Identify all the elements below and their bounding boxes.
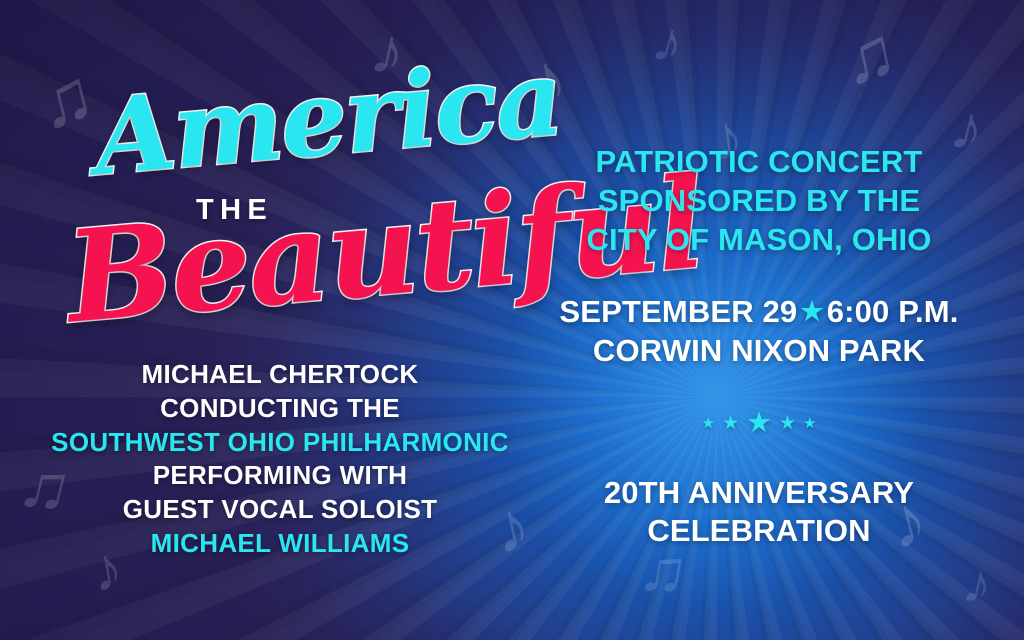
sponsor-block: PATRIOTIC CONCERT SPONSORED BY THE CITY …: [524, 142, 994, 259]
event-datetime-block: SEPTEMBER 29★6:00 P.M. CORWIN NIXON PARK: [524, 293, 994, 370]
event-details-column: PATRIOTIC CONCERT SPONSORED BY THE CITY …: [524, 142, 994, 551]
credit-line: CONDUCTING THE: [0, 392, 560, 426]
credit-line: PERFORMING WITH: [0, 459, 560, 493]
credit-line: SOUTHWEST OHIO PHILHARMONIC: [0, 426, 560, 460]
credit-line: MICHAEL CHERTOCK: [0, 358, 560, 392]
event-time: 6:00 P.M.: [827, 294, 959, 329]
sponsor-line-2: SPONSORED BY THE: [524, 181, 994, 220]
star-divider: ★★★★★: [524, 406, 994, 440]
concert-poster: ♫♪♪♪♪♫♪♪♫♪♫♪♪ America THE Beautiful MICH…: [0, 0, 1024, 640]
credit-line: GUEST VOCAL SOLOIST: [0, 493, 560, 527]
divider-star-icon: ★: [722, 414, 739, 433]
star-separator-icon: ★: [797, 296, 826, 326]
anniversary-line-1: 20TH ANNIVERSARY: [524, 474, 994, 512]
performer-credits: MICHAEL CHERTOCKCONDUCTING THESOUTHWEST …: [0, 358, 560, 561]
divider-star-icon: ★: [746, 409, 772, 438]
credit-line: MICHAEL WILLIAMS: [0, 527, 560, 561]
divider-star-icon: ★: [702, 416, 715, 431]
sponsor-line-1: PATRIOTIC CONCERT: [524, 142, 994, 181]
divider-star-icon: ★: [779, 414, 796, 433]
anniversary-block: 20TH ANNIVERSARY CELEBRATION: [524, 474, 994, 551]
event-date: SEPTEMBER 29: [559, 294, 797, 329]
anniversary-line-2: CELEBRATION: [524, 512, 994, 550]
event-date-time-line: SEPTEMBER 29★6:00 P.M.: [524, 293, 994, 331]
sponsor-line-3: CITY OF MASON, OHIO: [524, 220, 994, 259]
divider-star-icon: ★: [803, 416, 816, 431]
event-venue: CORWIN NIXON PARK: [524, 332, 994, 370]
poster-title: America THE Beautiful: [56, 48, 526, 348]
